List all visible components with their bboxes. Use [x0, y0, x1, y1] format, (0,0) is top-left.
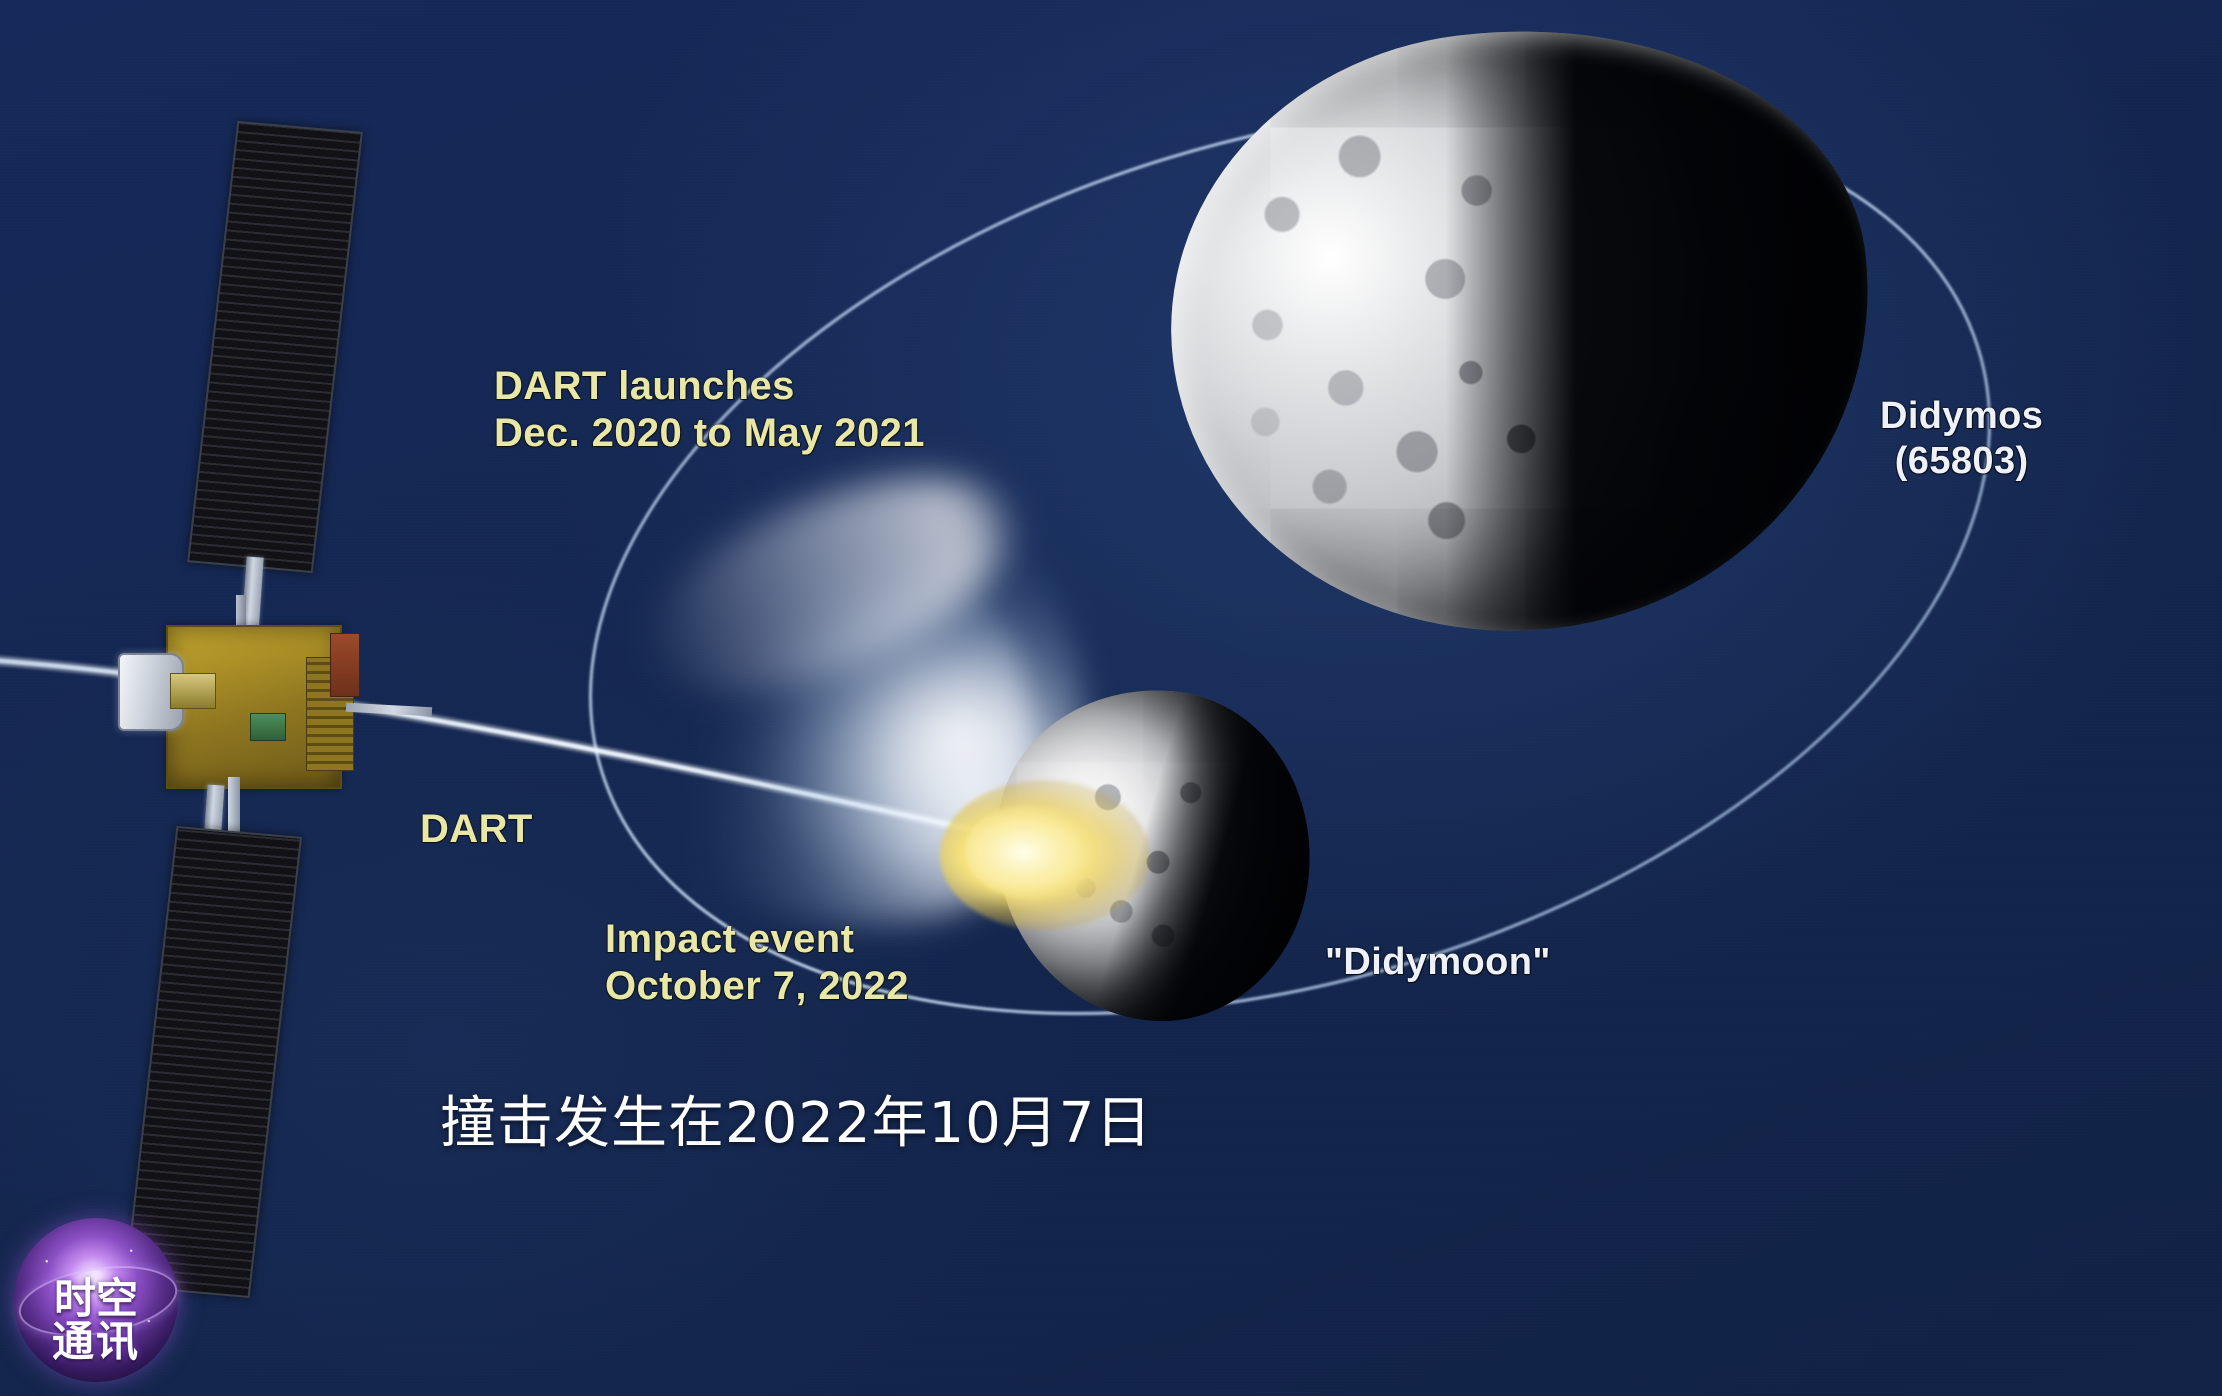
spacecraft-boom-right [346, 703, 432, 716]
dart-launch-label: DART launches Dec. 2020 to May 2021 [494, 363, 925, 457]
didymos-asteroid [1172, 30, 1872, 630]
watermark-line2: 通讯 [8, 1321, 184, 1364]
antenna-feed [170, 673, 216, 709]
impact-event-label: Impact event October 7, 2022 [605, 916, 909, 1010]
dart-mission-diagram: DART launches Dec. 2020 to May 2021 DART… [0, 0, 2222, 1396]
spacecraft-boom-bottom [228, 777, 240, 833]
watermark-text: 时空 通讯 [8, 1278, 184, 1364]
solar-panel-upper-icon [187, 121, 363, 573]
didymoon-label: "Didymoon" [1325, 940, 1551, 985]
chinese-caption: 撞击发生在2022年10月7日 [440, 1078, 1152, 1159]
watermark-line1: 时空 [54, 1274, 138, 1323]
spacecraft-instrument-green [250, 713, 286, 741]
spacecraft-thruster-red [330, 633, 360, 697]
didymos-lit-limb [1138, 0, 1906, 670]
watermark-logo: 时空 通讯 [8, 1212, 184, 1388]
dart-label: DART [420, 806, 533, 853]
didymos-label: Didymos (65803) [1880, 394, 2043, 484]
